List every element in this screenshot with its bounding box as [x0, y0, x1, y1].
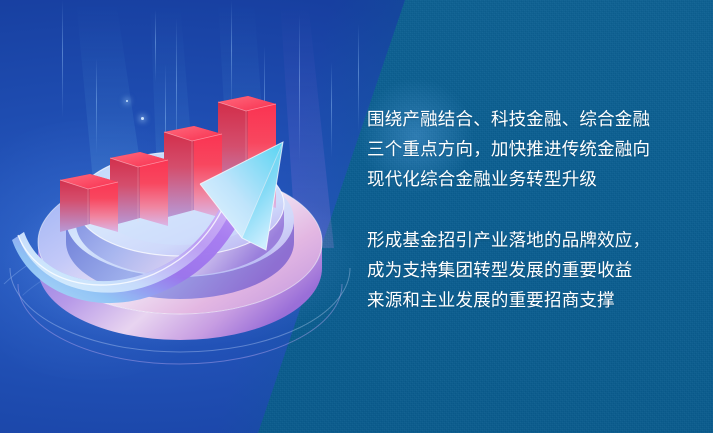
paragraph-2-line-2: 成为支持集团转型发展的重要收益 — [367, 260, 633, 280]
paragraph-2-line-3: 来源和主业发展的重要招商支撑 — [367, 290, 615, 310]
paragraph-2-line-1: 形成基金招引产业落地的品牌效应， — [367, 230, 650, 250]
growth-chart-illustration — [4, 92, 360, 354]
bar-1 — [60, 174, 118, 232]
bar-3 — [164, 126, 222, 218]
paragraph-1-line-1: 围绕产融结合、科技金融、综合金融 — [367, 109, 650, 129]
banner-copy: 围绕产融结合、科技金融、综合金融 三个重点方向，加快推进传统金融向 现代化综合金… — [367, 104, 689, 315]
bar-2 — [110, 152, 168, 226]
paragraph-2: 形成基金招引产业落地的品牌效应， 成为支持集团转型发展的重要收益 来源和主业发展… — [367, 225, 689, 315]
banner-stage: 围绕产融结合、科技金融、综合金融 三个重点方向，加快推进传统金融向 现代化综合金… — [0, 0, 713, 433]
paragraph-1: 围绕产融结合、科技金融、综合金融 三个重点方向，加快推进传统金融向 现代化综合金… — [367, 104, 689, 194]
paragraph-1-line-2: 三个重点方向，加快推进传统金融向 — [367, 139, 650, 159]
paragraph-1-line-3: 现代化综合金融业务转型升级 — [367, 169, 597, 189]
